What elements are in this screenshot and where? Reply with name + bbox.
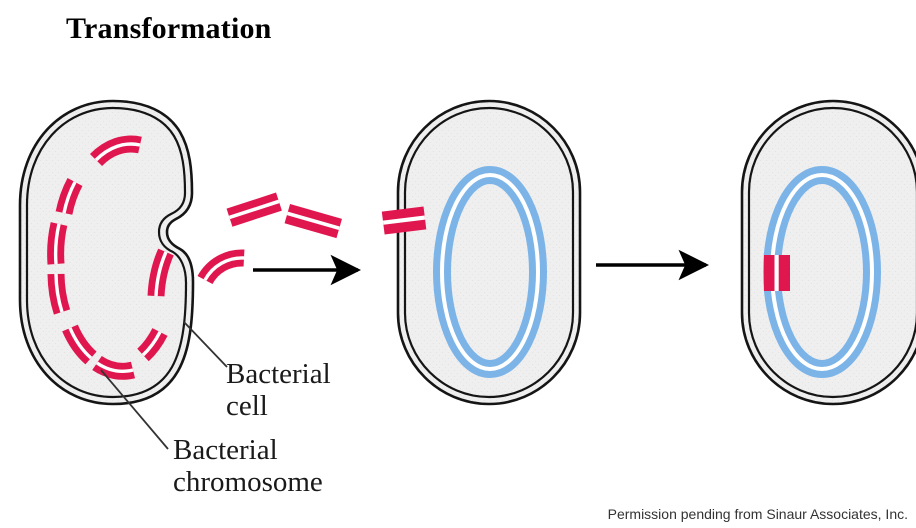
chromosome-fragment bbox=[56, 274, 62, 312]
chromosome-fragment bbox=[56, 224, 59, 264]
dna-fragment bbox=[205, 258, 244, 280]
released-dna-fragments bbox=[205, 193, 342, 280]
permission-credit: Permission pending from Sinaur Associate… bbox=[608, 506, 908, 522]
integrated-dna-segment bbox=[764, 255, 790, 291]
diagram-page: Transformation Bacterial cell Bacterial … bbox=[0, 0, 916, 528]
label-bacterial-chromosome: Bacterial chromosome bbox=[173, 434, 323, 498]
chromosome-fragment bbox=[156, 252, 166, 296]
dna-fragment bbox=[227, 193, 282, 227]
page-title: Transformation bbox=[66, 12, 272, 46]
label-bacterial-chromosome-line1: Bacterial bbox=[173, 434, 323, 466]
label-bacterial-cell-line1: Bacterial bbox=[226, 358, 331, 390]
label-bacterial-cell-line2: cell bbox=[226, 390, 331, 422]
leader-bacterial-cell bbox=[184, 322, 227, 367]
transformation-diagram bbox=[0, 0, 916, 528]
chromosome-fragment bbox=[97, 363, 133, 371]
chromosome-fragment bbox=[64, 182, 75, 213]
label-bacterial-chromosome-line2: chromosome bbox=[173, 466, 323, 498]
cell-wall-outer-stage2 bbox=[398, 101, 580, 404]
label-bacterial-cell: Bacterial cell bbox=[226, 358, 331, 422]
dna-fragment bbox=[285, 204, 342, 238]
stage-3-transformed-cell bbox=[742, 101, 916, 404]
stage-2-recipient-cell bbox=[382, 101, 580, 404]
